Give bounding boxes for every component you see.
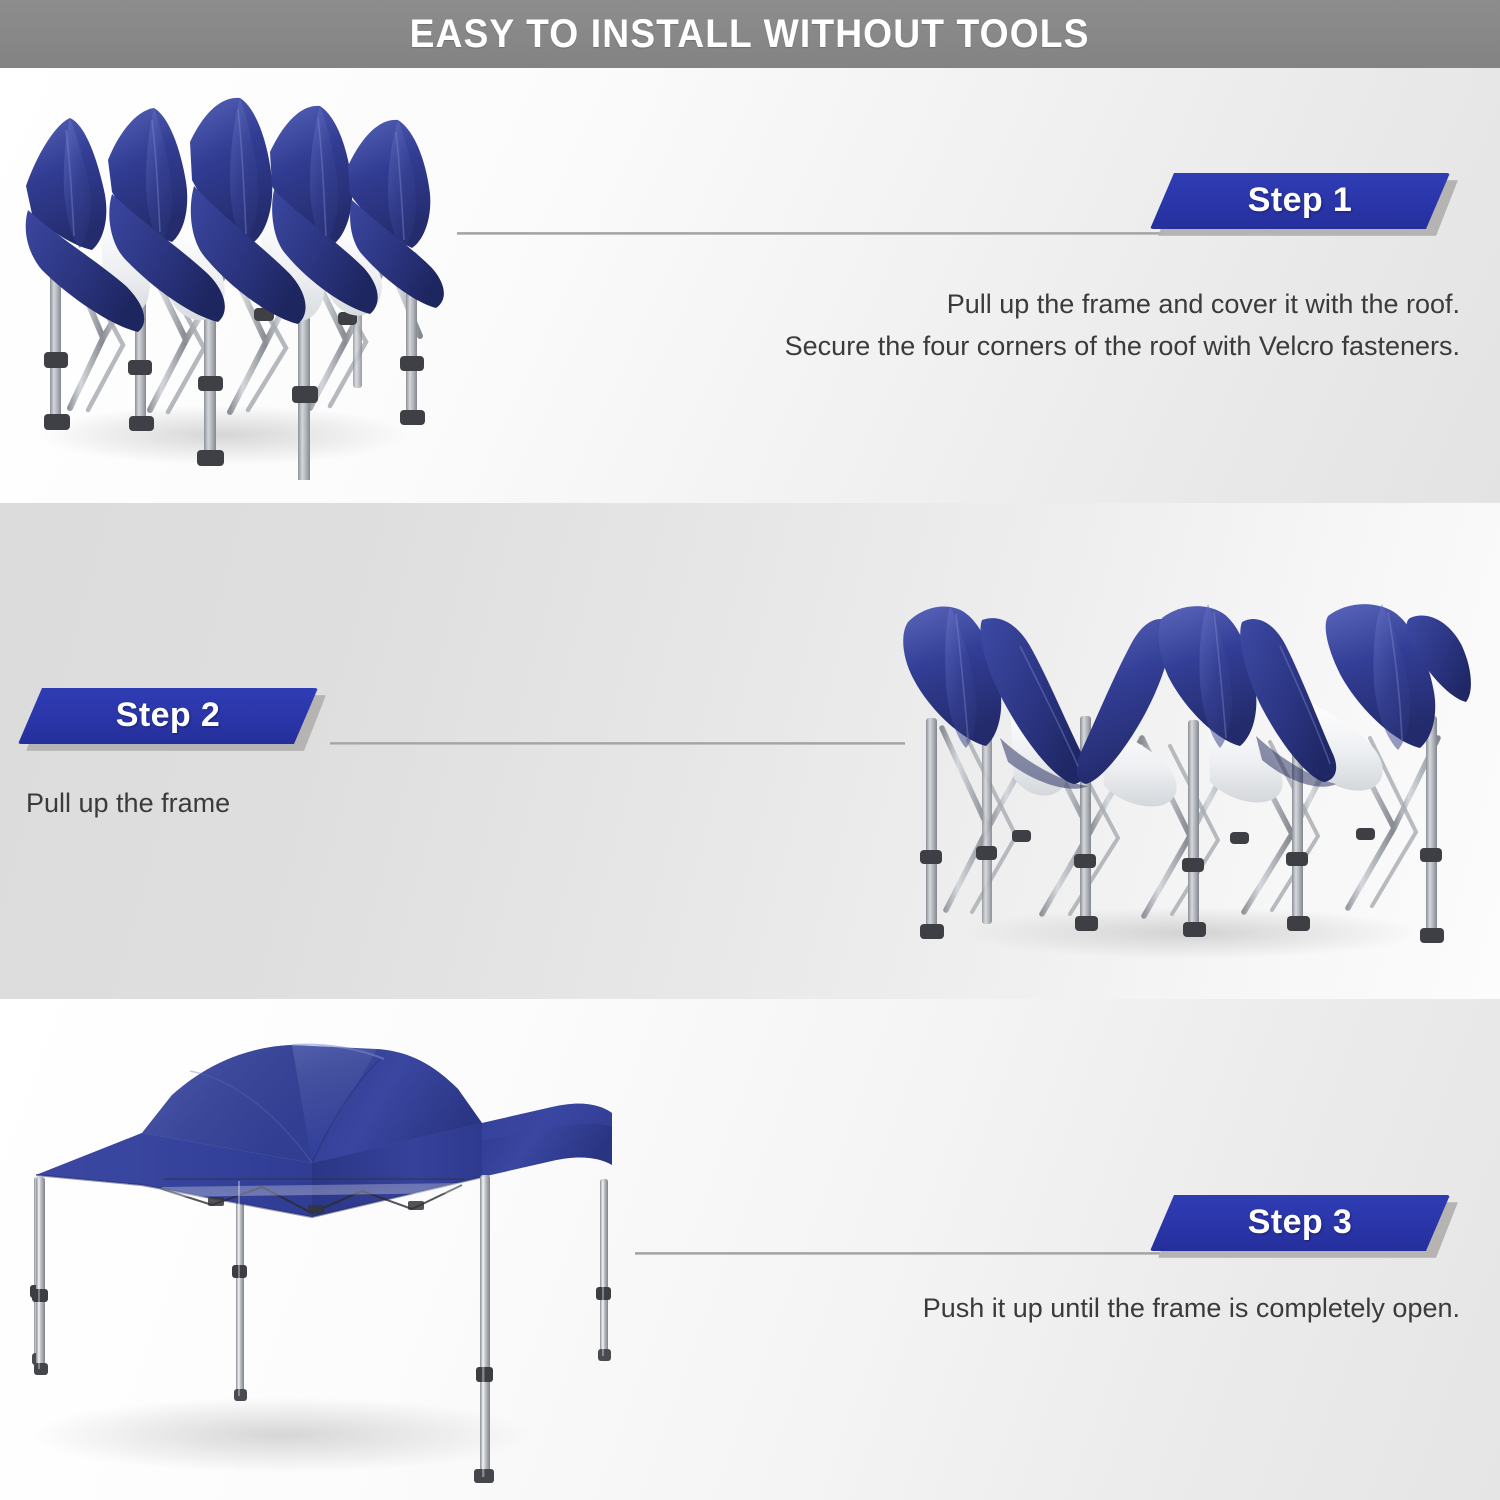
step-2-caption-line-1: Pull up the frame bbox=[26, 782, 626, 824]
step-3-connector-line bbox=[635, 1252, 1160, 1255]
step-2-section: Step 2 Pull up the frame bbox=[0, 503, 1500, 999]
header-bar: EASY TO INSTALL WITHOUT TOOLS bbox=[0, 0, 1500, 68]
page-title: EASY TO INSTALL WITHOUT TOOLS bbox=[410, 14, 1090, 54]
step-2-illustration bbox=[890, 588, 1480, 968]
step-3-badge: Step 3 bbox=[1150, 1195, 1460, 1257]
step-3-caption: Push it up until the frame is completely… bbox=[600, 1287, 1460, 1329]
badge-body: Step 3 bbox=[1150, 1195, 1450, 1251]
step-1-illustration bbox=[8, 90, 478, 480]
step-1-caption: Pull up the frame and cover it with the … bbox=[600, 283, 1460, 367]
badge-body: Step 2 bbox=[18, 688, 318, 744]
step-1-badge: Step 1 bbox=[1150, 173, 1460, 235]
step-3-illustration bbox=[12, 1037, 642, 1497]
step-2-badge: Step 2 bbox=[18, 688, 328, 750]
step-2-caption: Pull up the frame bbox=[26, 782, 626, 824]
step-1-badge-label: Step 1 bbox=[1248, 183, 1352, 219]
step-3-section: Step 3 Push it up until the frame is com… bbox=[0, 999, 1500, 1500]
step-1-section: Step 1 Pull up the frame and cover it wi… bbox=[0, 68, 1500, 503]
step-3-caption-line-1: Push it up until the frame is completely… bbox=[600, 1287, 1460, 1329]
step-1-caption-line-1: Pull up the frame and cover it with the … bbox=[600, 283, 1460, 325]
step-1-caption-line-2: Secure the four corners of the roof with… bbox=[600, 325, 1460, 367]
step-1-connector-line bbox=[457, 232, 1162, 235]
step-3-badge-label: Step 3 bbox=[1248, 1205, 1352, 1241]
badge-body: Step 1 bbox=[1150, 173, 1450, 229]
step-2-badge-label: Step 2 bbox=[116, 698, 220, 734]
step-2-connector-line bbox=[330, 742, 905, 745]
infographic-page: EASY TO INSTALL WITHOUT TOOLS bbox=[0, 0, 1500, 1500]
